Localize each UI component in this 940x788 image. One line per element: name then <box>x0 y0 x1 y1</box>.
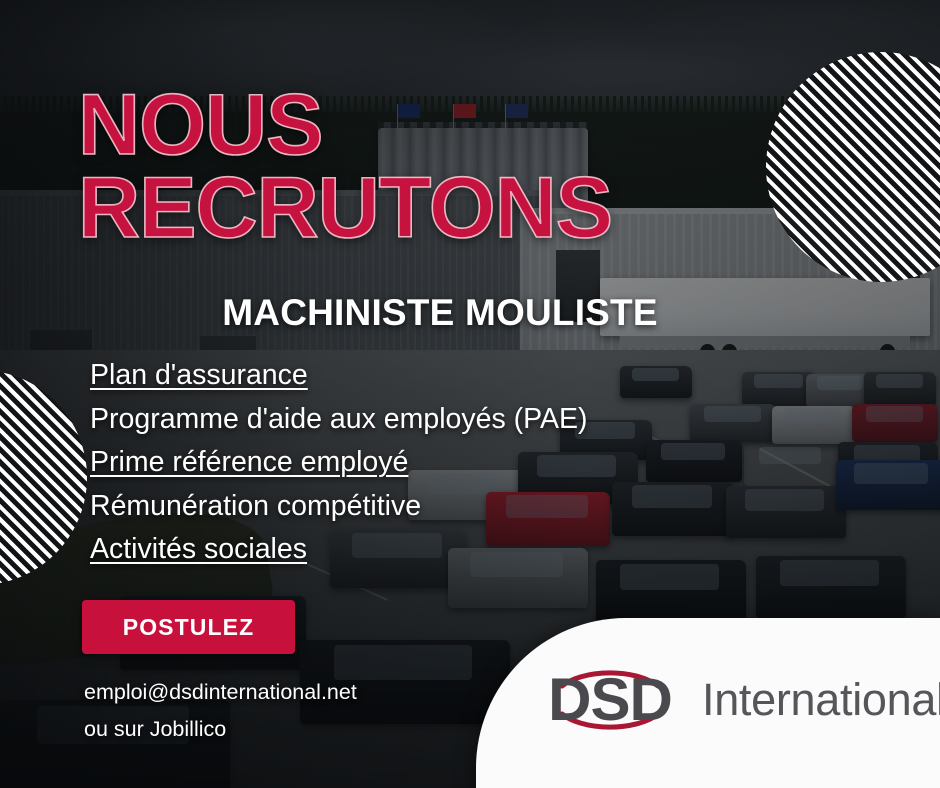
benefit-item: Rémunération compétitive <box>90 485 588 529</box>
recruitment-poster: NOUS RECRUTONS MACHINISTE MOULISTE Plan … <box>0 0 940 788</box>
benefit-item: Prime référence employé <box>90 441 588 485</box>
apply-button[interactable]: POSTULEZ <box>82 600 295 654</box>
logo-panel: DSD International <box>476 618 940 788</box>
contact-email[interactable]: emploi@dsdinternational.net <box>84 674 357 711</box>
logo-international-text: International <box>702 674 940 726</box>
benefits-list: Plan d'assurance Programme d'aide aux em… <box>90 354 588 572</box>
benefit-item: Programme d'aide aux employés (PAE) <box>90 398 588 442</box>
benefit-item: Activités sociales <box>90 528 588 572</box>
benefit-item: Plan d'assurance <box>90 354 588 398</box>
job-title: MACHINISTE MOULISTE <box>0 292 880 334</box>
logo-lockup: DSD International <box>534 652 940 748</box>
logo-dsd-text: DSD <box>548 670 672 730</box>
contact-alternative: ou sur Jobillico <box>84 711 357 748</box>
dsd-logo-mark: DSD <box>534 652 686 748</box>
headline: NOUS RECRUTONS <box>78 84 612 249</box>
contact-block: emploi@dsdinternational.net ou sur Jobil… <box>84 674 357 748</box>
